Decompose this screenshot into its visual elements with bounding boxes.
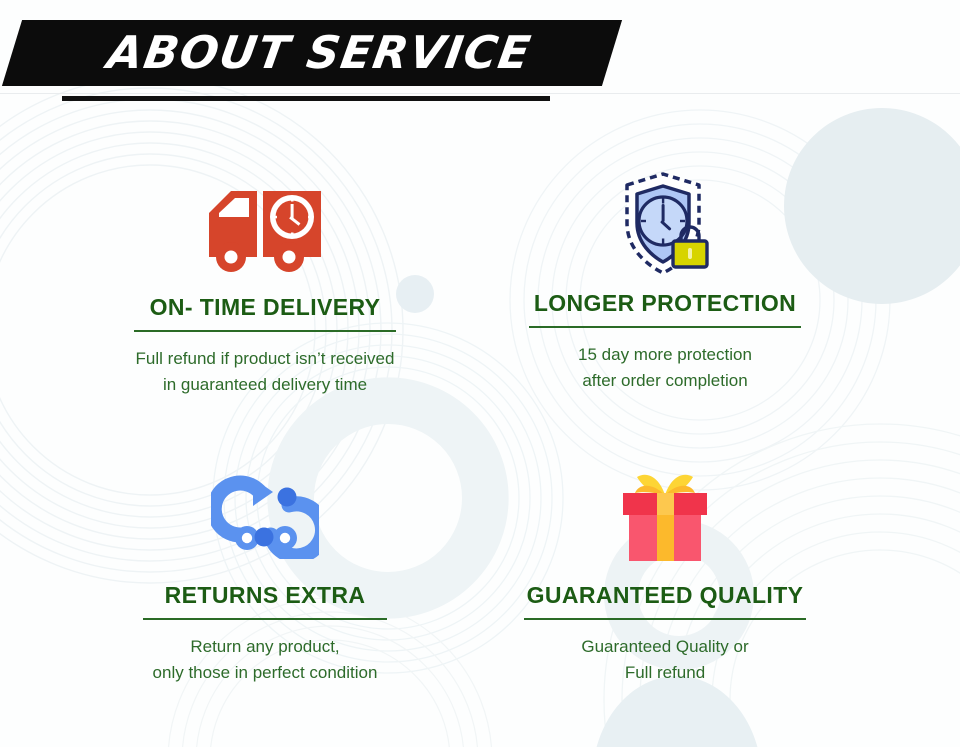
banner-underline-bar <box>62 96 550 101</box>
feature-description: 15 day more protection after order compl… <box>455 342 875 394</box>
description-line: only those in perfect condition <box>55 660 475 686</box>
feature-description: Return any product, only those in perfec… <box>55 634 475 686</box>
features-grid: ON- TIME DELIVERY Full refund if product… <box>0 108 960 747</box>
description-line: Return any product, <box>55 634 475 660</box>
return-exchange-arrows-icon <box>55 458 475 576</box>
description-line: Guaranteed Quality or <box>455 634 875 660</box>
title-divider <box>143 618 387 620</box>
feature-longer-protection: LONGER PROTECTION 15 day more protection… <box>455 166 875 394</box>
feature-title: RETURNS EXTRA <box>55 582 475 609</box>
title-divider <box>529 326 801 328</box>
title-divider <box>524 618 806 620</box>
shield-clock-lock-icon <box>455 166 875 284</box>
page-title: ABOUT SERVICE <box>103 24 592 82</box>
description-line: in guaranteed delivery time <box>55 372 475 398</box>
feature-title: ON- TIME DELIVERY <box>55 294 475 321</box>
title-divider <box>134 330 396 332</box>
header-banner: ABOUT SERVICE <box>0 0 960 108</box>
feature-description: Guaranteed Quality or Full refund <box>455 634 875 686</box>
gift-box-icon <box>455 458 875 576</box>
delivery-truck-clock-icon <box>55 170 475 288</box>
description-line: Full refund <box>455 660 875 686</box>
feature-on-time-delivery: ON- TIME DELIVERY Full refund if product… <box>55 170 475 398</box>
about-service-page: ABOUT SERVICE <box>0 0 960 747</box>
feature-returns-extra: RETURNS EXTRA Return any product, only t… <box>55 458 475 686</box>
description-line: Full refund if product isn’t received <box>55 346 475 372</box>
banner-hairline <box>0 93 960 94</box>
feature-title: LONGER PROTECTION <box>455 290 875 317</box>
feature-title: GUARANTEED QUALITY <box>455 582 875 609</box>
description-line: 15 day more protection <box>455 342 875 368</box>
feature-description: Full refund if product isn’t received in… <box>55 346 475 398</box>
description-line: after order completion <box>455 368 875 394</box>
feature-guaranteed-quality: GUARANTEED QUALITY Guaranteed Quality or… <box>455 458 875 686</box>
